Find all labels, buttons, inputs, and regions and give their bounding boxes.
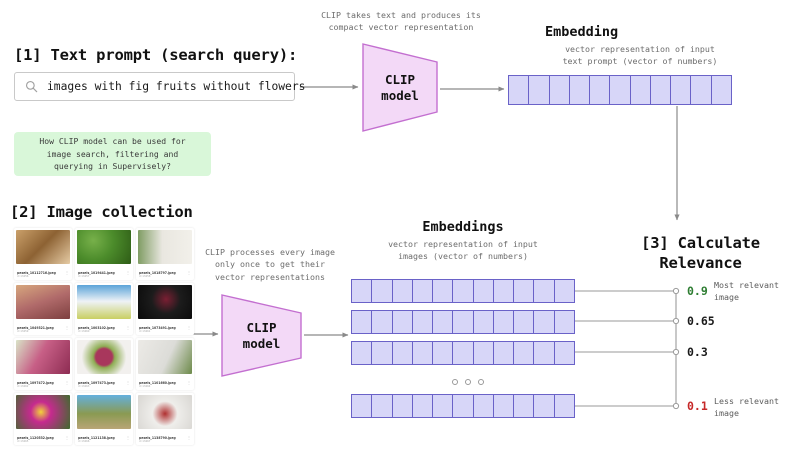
callout-question: How CLIP model can be used for image sea… bbox=[14, 132, 211, 176]
image-meta: pexels_1097472.jpeg id 13462 bbox=[17, 381, 69, 388]
relevance-score-2: 0.65 bbox=[687, 314, 715, 328]
image-thumbnail bbox=[16, 395, 70, 429]
embedding-subtitle: vector representation of input text prom… bbox=[510, 43, 770, 68]
image-menu-icon[interactable]: ⋮ bbox=[65, 437, 69, 440]
image-embedding-vector-3 bbox=[351, 341, 575, 365]
image-thumbnail bbox=[16, 285, 70, 319]
image-id: id 13461 bbox=[139, 330, 191, 333]
image-meta: pexels_1019441.jpeg id 13457 bbox=[78, 271, 130, 278]
image-id: id 13462 bbox=[17, 385, 69, 388]
image-thumbnail bbox=[138, 230, 192, 264]
image-menu-icon[interactable]: ⋮ bbox=[126, 272, 130, 275]
image-thumbnail bbox=[138, 285, 192, 319]
image-thumbnail bbox=[138, 340, 192, 374]
image-menu-icon[interactable]: ⋮ bbox=[65, 327, 69, 330]
image-meta: pexels_1121138.jpeg id 13466 bbox=[78, 436, 130, 443]
image-meta: pexels_1101660.jpeg id 13464 bbox=[139, 381, 191, 388]
vector-cell bbox=[651, 76, 671, 104]
image-id: id 13458 bbox=[139, 275, 191, 278]
vector-cell bbox=[712, 76, 731, 104]
embeddings-title: Embeddings bbox=[351, 219, 575, 236]
image-id: id 13460 bbox=[78, 330, 130, 333]
image-card[interactable]: pexels_1018797.jpeg id 13458 ⋮ bbox=[136, 228, 194, 280]
embedding-title: Embedding bbox=[545, 24, 800, 41]
vector-cell bbox=[372, 395, 392, 417]
image-card[interactable]: pexels_1121138.jpeg id 13466 ⋮ bbox=[75, 393, 133, 445]
image-menu-icon[interactable]: ⋮ bbox=[187, 382, 191, 385]
vector-cell bbox=[514, 311, 534, 333]
image-id: id 13466 bbox=[78, 440, 130, 443]
clip-model-image-label: CLIP model bbox=[222, 319, 301, 352]
image-meta: pexels_1138790.jpeg id 13467 bbox=[139, 436, 191, 443]
relevance-note-4: Less relevant image bbox=[714, 395, 800, 419]
image-menu-icon[interactable]: ⋮ bbox=[65, 272, 69, 275]
vector-cell bbox=[453, 395, 473, 417]
image-card[interactable]: pexels_1138790.jpeg id 13467 ⋮ bbox=[136, 393, 194, 445]
vector-cell bbox=[413, 280, 433, 302]
vector-cell bbox=[393, 342, 413, 364]
image-menu-icon[interactable]: ⋮ bbox=[126, 382, 130, 385]
vector-cell bbox=[393, 280, 413, 302]
vector-cell bbox=[474, 311, 494, 333]
image-card[interactable]: pexels_1019441.jpeg id 13457 ⋮ bbox=[75, 228, 133, 280]
vector-cell bbox=[372, 311, 392, 333]
vector-cell bbox=[555, 311, 574, 333]
image-meta: pexels_1097473.jpeg id 13463 bbox=[78, 381, 130, 388]
embeddings-ellipsis bbox=[452, 379, 484, 385]
vector-cell bbox=[453, 311, 473, 333]
vector-cell bbox=[494, 342, 514, 364]
image-meta: pexels_1018797.jpeg id 13458 bbox=[139, 271, 191, 278]
image-id: id 13457 bbox=[78, 275, 130, 278]
image-id: id 13465 bbox=[17, 440, 69, 443]
image-thumbnail bbox=[16, 230, 70, 264]
callout-question-text: How CLIP model can be used for image sea… bbox=[39, 135, 185, 173]
image-id: id 13464 bbox=[139, 385, 191, 388]
clip-model-image[interactable]: CLIP model bbox=[222, 295, 301, 376]
vector-cell bbox=[352, 280, 372, 302]
clip-model-text-label: CLIP model bbox=[363, 71, 437, 104]
image-id: id 13459 bbox=[17, 330, 69, 333]
image-card[interactable]: pexels_1101660.jpeg id 13464 ⋮ bbox=[136, 338, 194, 390]
vector-cell bbox=[631, 76, 651, 104]
vector-cell bbox=[433, 342, 453, 364]
image-menu-icon[interactable]: ⋮ bbox=[126, 327, 130, 330]
vector-cell bbox=[590, 76, 610, 104]
image-embedding-vector-last bbox=[351, 394, 575, 418]
step-3-heading: [3] Calculate Relevance bbox=[613, 233, 788, 273]
vector-cell bbox=[474, 395, 494, 417]
relevance-node-1 bbox=[673, 288, 678, 293]
relevance-score-4: 0.1 bbox=[687, 399, 708, 413]
vector-cell bbox=[534, 280, 554, 302]
embeddings-subtitle: vector representation of input images (v… bbox=[351, 238, 575, 263]
search-icon bbox=[25, 80, 38, 93]
vector-cell bbox=[474, 342, 494, 364]
image-meta: pexels_1120532.jpeg id 13465 bbox=[17, 436, 69, 443]
vector-cell bbox=[534, 311, 554, 333]
search-input-value: images with fig fruits without flowers bbox=[47, 80, 305, 93]
text-embedding-vector bbox=[508, 75, 732, 105]
image-meta: pexels_1049321.jpeg id 13459 bbox=[17, 326, 69, 333]
search-input[interactable]: images with fig fruits without flowers bbox=[14, 72, 295, 101]
vector-cell bbox=[691, 76, 711, 104]
image-card[interactable]: pexels_1073491.jpeg id 13461 ⋮ bbox=[136, 283, 194, 335]
step-1-heading: [1] Text prompt (search query): bbox=[14, 46, 297, 64]
vector-cell bbox=[555, 280, 574, 302]
vector-cell bbox=[433, 280, 453, 302]
image-menu-icon[interactable]: ⋮ bbox=[187, 437, 191, 440]
vector-cell bbox=[474, 280, 494, 302]
image-card[interactable]: pexels_1003102.jpeg id 13460 ⋮ bbox=[75, 283, 133, 335]
vector-cell bbox=[494, 280, 514, 302]
vector-cell bbox=[413, 342, 433, 364]
image-card[interactable]: pexels_1097473.jpeg id 13463 ⋮ bbox=[75, 338, 133, 390]
vector-cell bbox=[393, 395, 413, 417]
vector-cell bbox=[453, 342, 473, 364]
image-embedding-vector-2 bbox=[351, 310, 575, 334]
image-menu-icon[interactable]: ⋮ bbox=[126, 437, 130, 440]
vector-cell bbox=[413, 311, 433, 333]
vector-cell bbox=[610, 76, 630, 104]
vector-cell bbox=[534, 395, 554, 417]
image-collection-grid: pexels_10112716.jpeg id 13456 ⋮ pexels_1… bbox=[14, 228, 194, 445]
relevance-score-1: 0.9 bbox=[687, 284, 708, 298]
image-card[interactable]: pexels_10112716.jpeg id 13456 ⋮ bbox=[14, 228, 72, 280]
image-thumbnail bbox=[16, 340, 70, 374]
image-embedding-vector-1 bbox=[351, 279, 575, 303]
vector-cell bbox=[514, 395, 534, 417]
clip-model-text[interactable]: CLIP model bbox=[363, 44, 437, 131]
image-thumbnail bbox=[138, 395, 192, 429]
image-meta: pexels_10112716.jpeg id 13456 bbox=[17, 271, 69, 278]
image-card[interactable]: pexels_1120532.jpeg id 13465 ⋮ bbox=[14, 393, 72, 445]
vector-cell bbox=[570, 76, 590, 104]
image-thumbnail bbox=[77, 395, 131, 429]
vector-cell bbox=[393, 311, 413, 333]
image-card[interactable]: pexels_1097472.jpeg id 13462 ⋮ bbox=[14, 338, 72, 390]
image-thumbnail bbox=[77, 340, 131, 374]
vector-cell bbox=[555, 342, 574, 364]
image-meta: pexels_1073491.jpeg id 13461 bbox=[139, 326, 191, 333]
vector-cell bbox=[494, 311, 514, 333]
clip-image-annotation: CLIP processes every image only once to … bbox=[190, 246, 350, 283]
image-menu-icon[interactable]: ⋮ bbox=[187, 327, 191, 330]
relevance-score-3: 0.3 bbox=[687, 345, 708, 359]
step-2-heading: [2] Image collection bbox=[10, 203, 193, 221]
vector-cell bbox=[509, 76, 529, 104]
image-thumbnail bbox=[77, 285, 131, 319]
image-menu-icon[interactable]: ⋮ bbox=[65, 382, 69, 385]
image-id: id 13456 bbox=[17, 275, 69, 278]
vector-cell bbox=[671, 76, 691, 104]
vector-cell bbox=[433, 311, 453, 333]
vector-cell bbox=[453, 280, 473, 302]
relevance-node-4 bbox=[673, 403, 678, 408]
image-id: id 13463 bbox=[78, 385, 130, 388]
vector-cell bbox=[494, 395, 514, 417]
vector-cell bbox=[514, 280, 534, 302]
relevance-node-3 bbox=[673, 349, 678, 354]
vector-cell bbox=[555, 395, 574, 417]
image-card[interactable]: pexels_1049321.jpeg id 13459 ⋮ bbox=[14, 283, 72, 335]
vector-cell bbox=[372, 342, 392, 364]
vector-cell bbox=[529, 76, 549, 104]
relevance-note-1: Most relevant image bbox=[714, 279, 800, 303]
image-id: id 13467 bbox=[139, 440, 191, 443]
vector-cell bbox=[514, 342, 534, 364]
vector-cell bbox=[352, 395, 372, 417]
vector-cell bbox=[352, 311, 372, 333]
vector-cell bbox=[550, 76, 570, 104]
image-meta: pexels_1003102.jpeg id 13460 bbox=[78, 326, 130, 333]
image-thumbnail bbox=[77, 230, 131, 264]
vector-cell bbox=[433, 395, 453, 417]
vector-cell bbox=[352, 342, 372, 364]
vector-cell bbox=[413, 395, 433, 417]
relevance-node-2 bbox=[673, 318, 678, 323]
vector-cell bbox=[372, 280, 392, 302]
vector-cell bbox=[534, 342, 554, 364]
clip-text-annotation: CLIP takes text and produces its compact… bbox=[311, 9, 491, 34]
